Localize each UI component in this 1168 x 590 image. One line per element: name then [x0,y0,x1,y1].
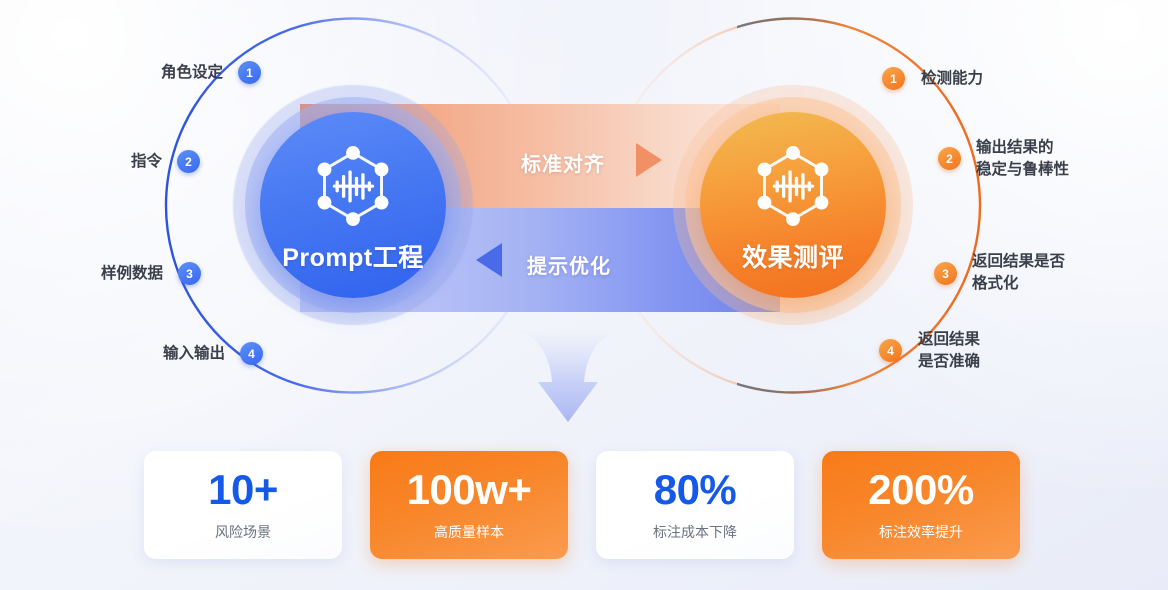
stat-value: 10+ [208,469,278,511]
left-badge-3[interactable]: 3 [178,262,201,285]
stat-value: 80% [654,469,737,511]
right-label-4: 返回结果 是否准确 [918,329,980,373]
arrow-down-icon [508,330,628,430]
right-badge-3[interactable]: 3 [934,262,957,285]
stat-card-labeling-efficiency-up[interactable]: 200% 标注效率提升 [822,451,1020,559]
right-label-2-line2: 稳定与鲁棒性 [976,159,1069,181]
left-node-title: Prompt工程 [282,238,424,274]
right-badge-2[interactable]: 2 [938,147,961,170]
right-node-title: 效果测评 [742,238,844,274]
right-label-4-line2: 是否准确 [918,351,980,373]
hexagon-network-icon [307,140,399,232]
right-label-1: 检测能力 [921,68,983,90]
right-label-3-line1: 返回结果是否 [972,251,1065,273]
right-label-3: 返回结果是否 格式化 [972,251,1065,295]
node-effect-evaluation[interactable]: 效果测评 [700,112,886,298]
arrow-right-icon [636,143,662,177]
node-prompt-engineering[interactable]: Prompt工程 [260,112,446,298]
stat-caption: 标注效率提升 [879,522,963,542]
hexagon-network-icon [747,140,839,232]
left-label-3: 样例数据 [0,263,163,285]
stat-caption: 高质量样本 [434,522,504,542]
left-badge-4[interactable]: 4 [240,342,263,365]
left-badge-2[interactable]: 2 [177,150,200,173]
left-label-1: 角色设定 [0,62,223,84]
right-label-3-line2: 格式化 [972,273,1065,295]
infographic-canvas: 标准对齐 提示优化 Promp [0,0,1168,590]
left-label-4: 输入输出 [0,343,225,365]
left-badge-1[interactable]: 1 [238,61,261,84]
arrow-left-icon [476,243,502,277]
right-label-4-line1: 返回结果 [918,329,980,351]
right-label-2: 输出结果的 稳定与鲁棒性 [976,137,1069,181]
stat-value: 200% [868,469,973,511]
right-label-2-line1: 输出结果的 [976,137,1069,159]
stat-caption: 风险场景 [215,522,271,542]
left-label-2: 指令 [0,151,162,173]
stat-caption: 标注成本下降 [653,522,737,542]
right-badge-1[interactable]: 1 [882,67,905,90]
flow-label-align: 标准对齐 [521,148,605,177]
stat-card-labeling-cost-down[interactable]: 80% 标注成本下降 [596,451,794,559]
stat-value: 100w+ [407,469,532,511]
right-label-1-line1: 检测能力 [921,68,983,90]
flow-label-optimize: 提示优化 [527,250,611,279]
stat-card-risk-scenarios[interactable]: 10+ 风险场景 [144,451,342,559]
stat-card-high-quality-samples[interactable]: 100w+ 高质量样本 [370,451,568,559]
right-badge-4[interactable]: 4 [879,339,902,362]
stat-card-row: 10+ 风险场景 100w+ 高质量样本 80% 标注成本下降 200% 标注效… [144,451,1168,567]
